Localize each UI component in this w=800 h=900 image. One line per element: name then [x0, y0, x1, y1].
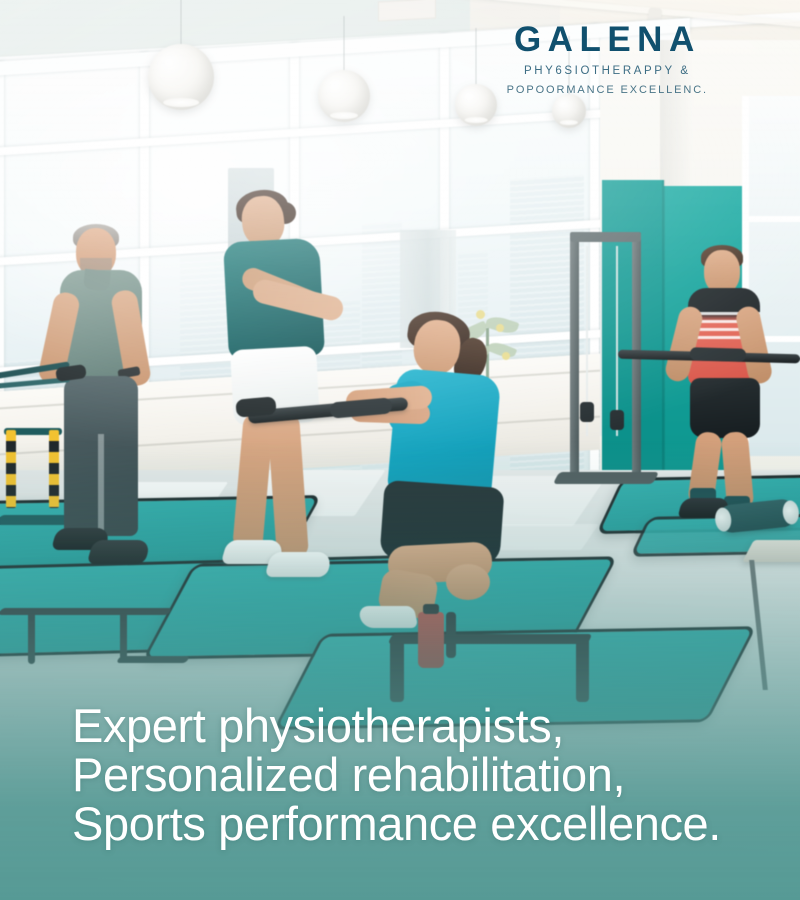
- frame-bar: [120, 610, 127, 660]
- frame-bar: [576, 636, 589, 702]
- hurdle-leg: [6, 430, 16, 508]
- brand-tagline-line-1: PHY6SIOTHERAPPY &: [507, 66, 708, 78]
- leg: [267, 413, 309, 559]
- headline-line-1: Expert physiotherapists,: [72, 701, 721, 750]
- rack-handle: [580, 402, 594, 422]
- knee: [446, 564, 490, 600]
- rack-handle: [610, 410, 624, 430]
- lamp-globe: [318, 70, 370, 122]
- shoe: [264, 552, 333, 577]
- wall-corner-edge: [662, 180, 665, 480]
- treatment-table: [742, 540, 800, 562]
- lamp-globe: [148, 44, 214, 110]
- pendant-globe-lamp: [318, 16, 370, 122]
- water-bottle: [418, 612, 444, 668]
- shirt-collar: [83, 269, 111, 292]
- rack-post: [570, 232, 579, 482]
- equipment-frame: [0, 600, 190, 670]
- frame-bar: [446, 612, 456, 658]
- frame-bar: [390, 638, 404, 702]
- pendant-globe-lamp: [455, 28, 497, 126]
- brand-logo: GALENA PHY6SIOTHERAPPY & POPOORMANCE EXC…: [507, 22, 708, 96]
- brand-wordmark: GALENA: [507, 22, 708, 57]
- rack-cable: [600, 246, 602, 436]
- training-bar-grip: [235, 396, 276, 417]
- frame-bar: [0, 608, 172, 615]
- frame-bar: [28, 608, 35, 664]
- ceiling-vent: [378, 0, 436, 22]
- headline-block: Expert physiotherapists, Personalized re…: [72, 701, 721, 848]
- rack-cable: [616, 246, 618, 436]
- frame-bar: [116, 656, 190, 663]
- training-bar-pad: [690, 347, 746, 361]
- lamp-globe: [455, 84, 497, 126]
- brand-tagline-line-2: POPOORMANCE EXCELLENC.: [507, 85, 708, 96]
- person-woman-trainer: [218, 196, 358, 596]
- rack-crossbar: [570, 232, 641, 242]
- rack-base: [553, 472, 659, 484]
- poster-canvas: GALENA PHY6SIOTHERAPPY & POPOORMANCE EXC…: [0, 0, 800, 900]
- lamp-globe: [552, 94, 586, 128]
- headline-line-3: Sports performance excellence.: [72, 799, 721, 848]
- plant-flower: [476, 310, 485, 319]
- person-man-coral-striped-tee: [672, 250, 782, 510]
- person-woman-cyan-tee: [352, 320, 532, 640]
- person-man-sage-polo: [40, 228, 170, 568]
- dark-shorts: [690, 378, 760, 438]
- pendant-globe-lamp: [148, 0, 214, 110]
- shoe: [87, 540, 152, 564]
- headline-line-2: Personalized rehabilitation,: [72, 750, 721, 799]
- leg-gap: [98, 434, 104, 538]
